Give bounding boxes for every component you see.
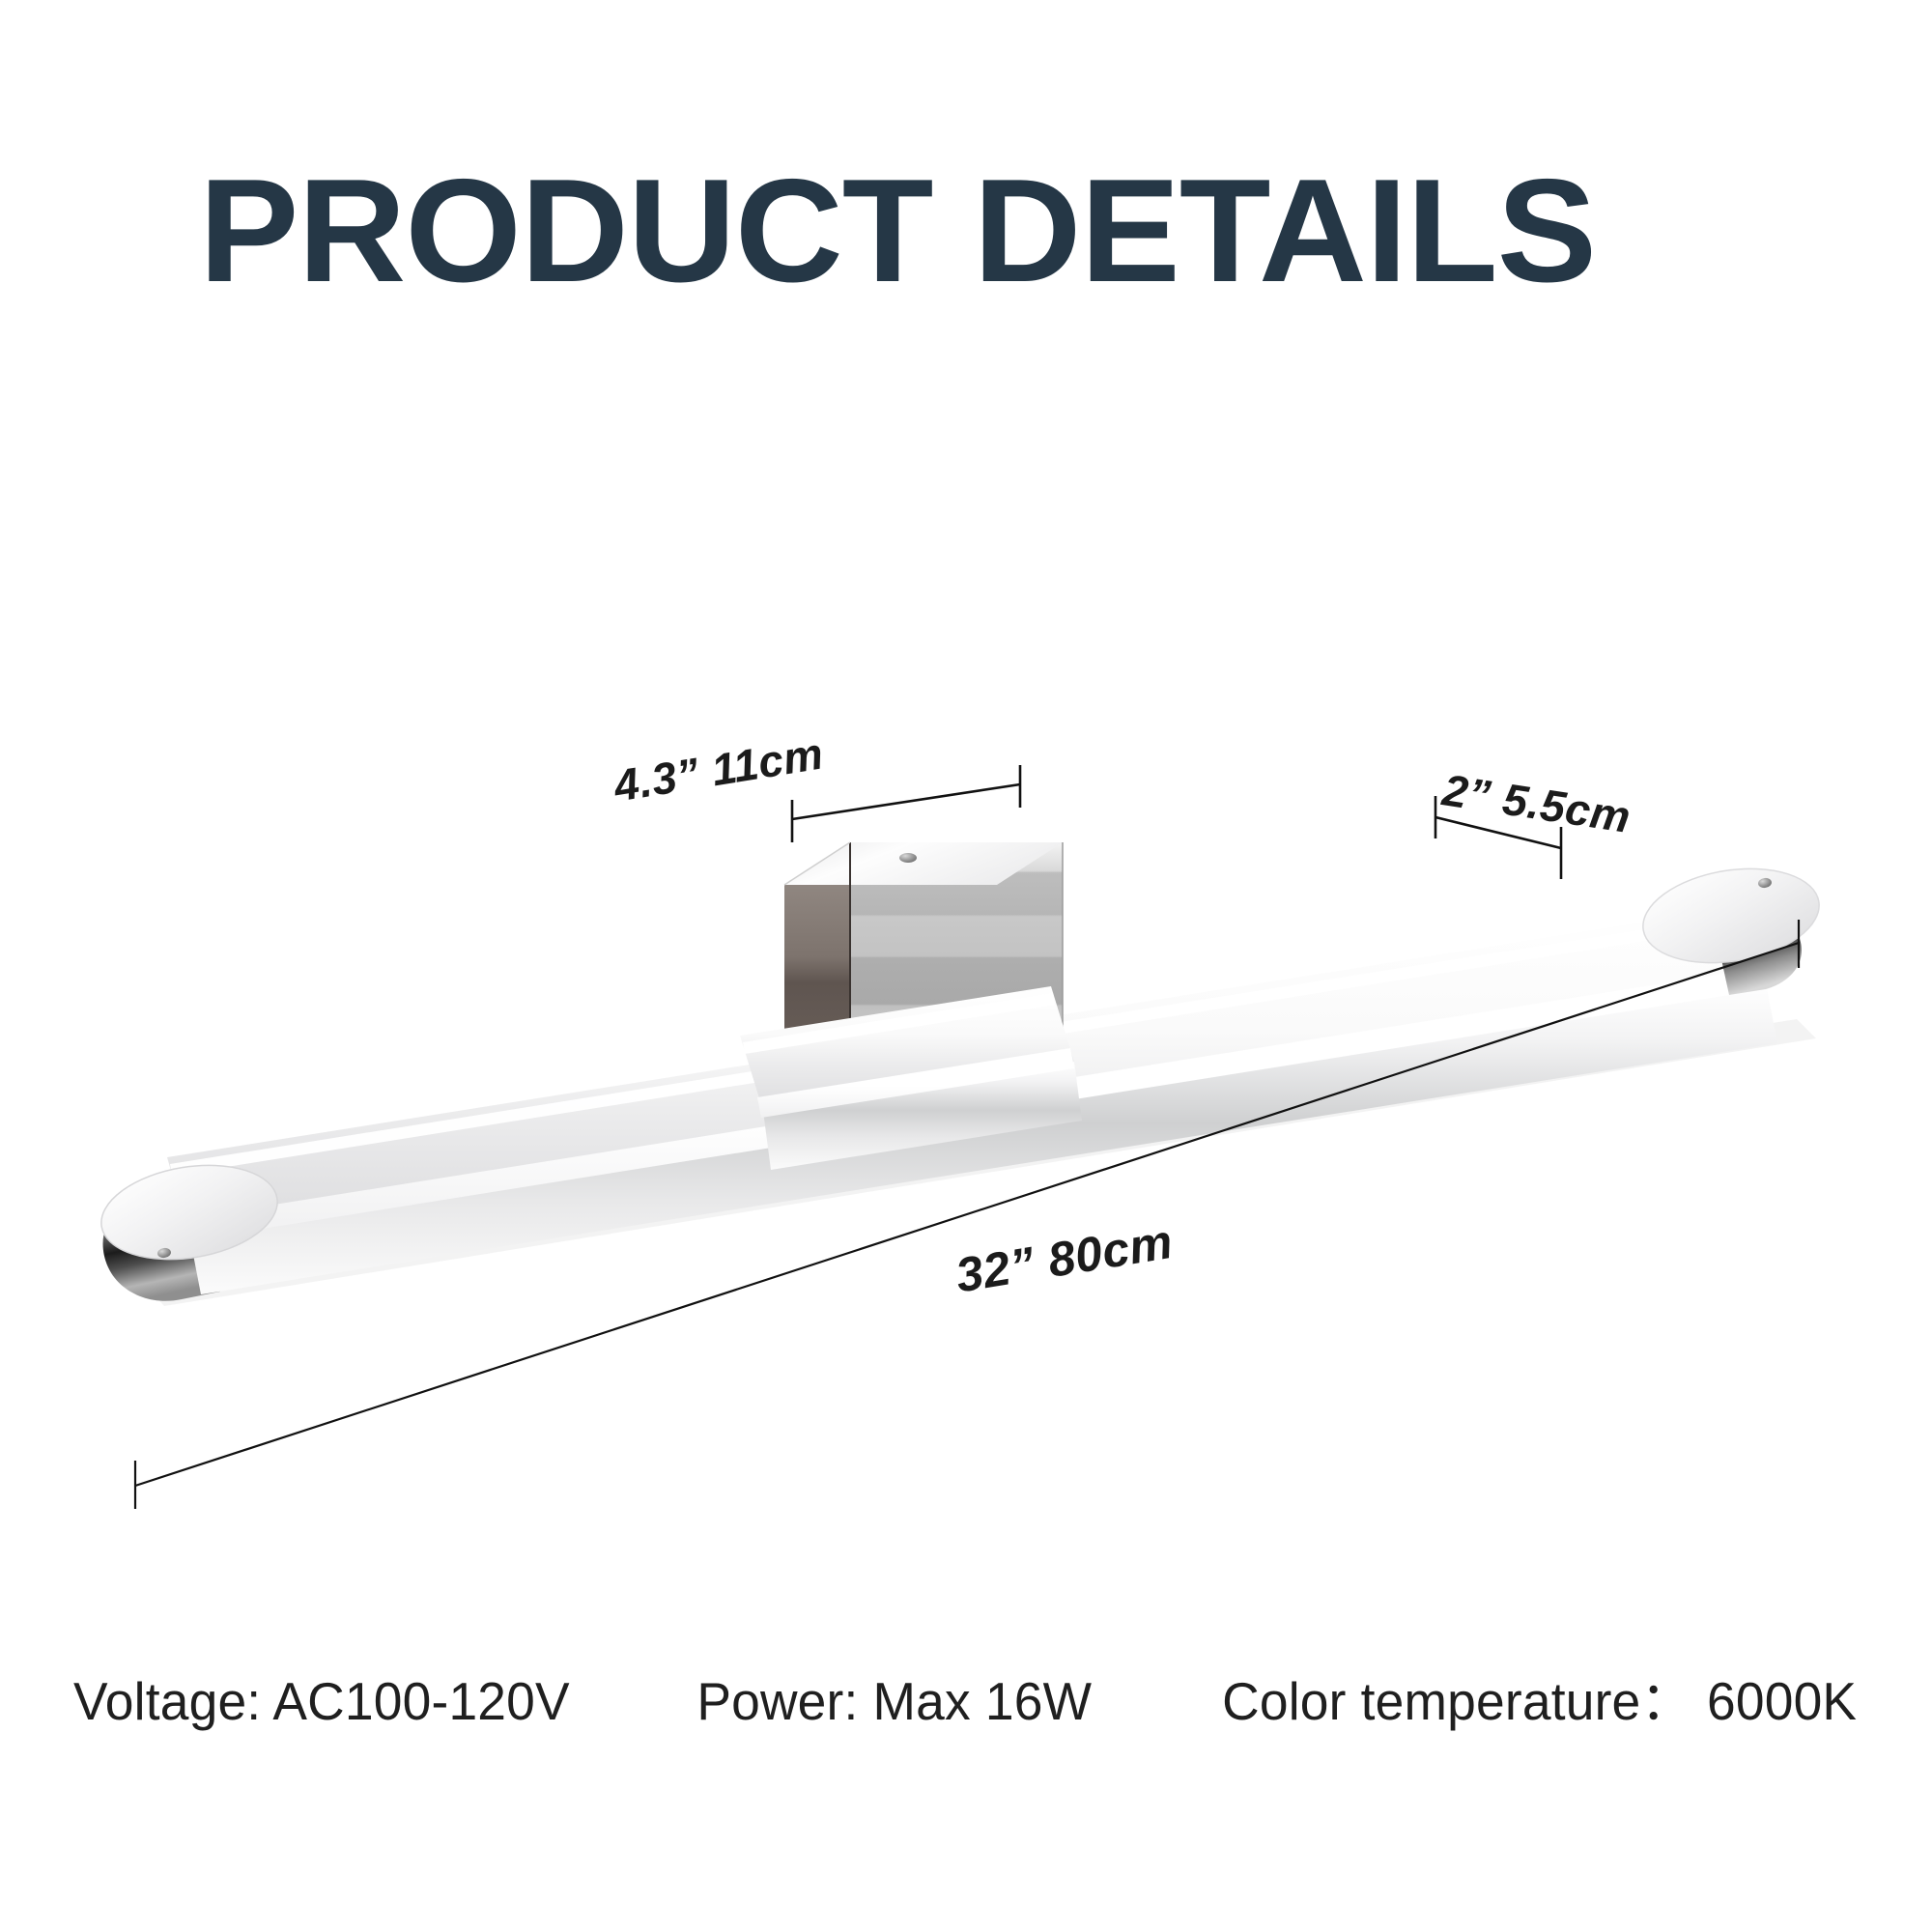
mount-box-screw-icon (899, 853, 917, 863)
specifications-row: Voltage: AC100-120V Power: Max 16W Color… (0, 1658, 1932, 1735)
dimension-line-width-line (792, 784, 1020, 819)
spec-voltage: Voltage: AC100-120V (73, 1670, 570, 1732)
spec-power: Power: Max 16W (697, 1670, 1093, 1732)
product-diagram-svg (0, 0, 1932, 1932)
spec-color-temperature: Color temperature： 6000K (1222, 1658, 1857, 1735)
product-diagram (0, 0, 1932, 1932)
product-details-page: PRODUCT DETAILS (0, 0, 1932, 1932)
